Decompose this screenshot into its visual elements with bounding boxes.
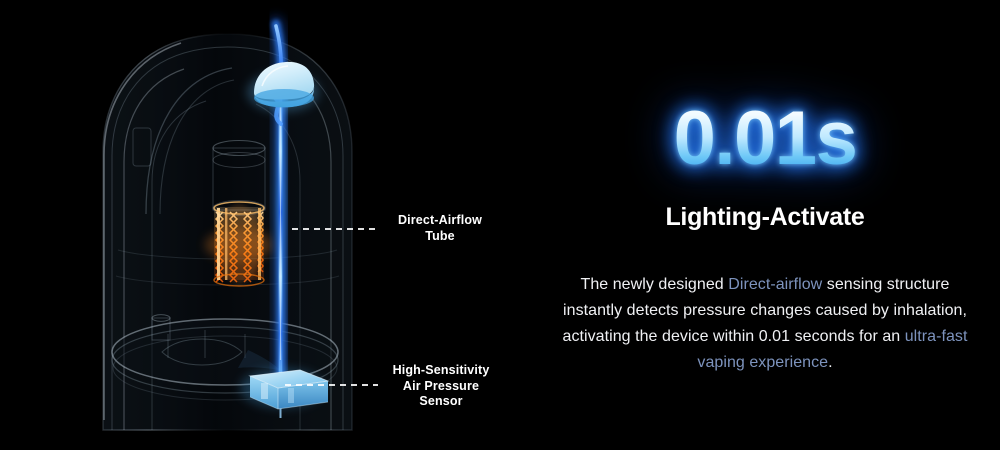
mesh-coil-assembly: [205, 202, 273, 286]
callout-label-direct-airflow-tube: Direct-Airflow Tube: [384, 213, 496, 244]
subheadline-text: Lighting-Activate: [530, 203, 1000, 232]
body-segment-3: .: [828, 354, 833, 371]
body-segment-1: The newly designed: [581, 276, 729, 293]
body-paragraph: The newly designed Direct-airflow sensin…: [550, 272, 980, 376]
body-highlight-direct-airflow: Direct-airflow: [728, 276, 822, 293]
device-illustration: Direct-Airflow Tube High-Sensitivity Air…: [0, 0, 530, 450]
callout-label-air-pressure-sensor: High-Sensitivity Air Pressure Sensor: [384, 363, 498, 410]
product-feature-banner: Direct-Airflow Tube High-Sensitivity Air…: [0, 0, 1000, 450]
headline-block: 0.01s 0.01s: [530, 95, 1000, 190]
copy-panel: 0.01s 0.01s Lighting-Activate The newly …: [530, 0, 1000, 450]
headline-text: 0.01s: [530, 95, 1000, 183]
